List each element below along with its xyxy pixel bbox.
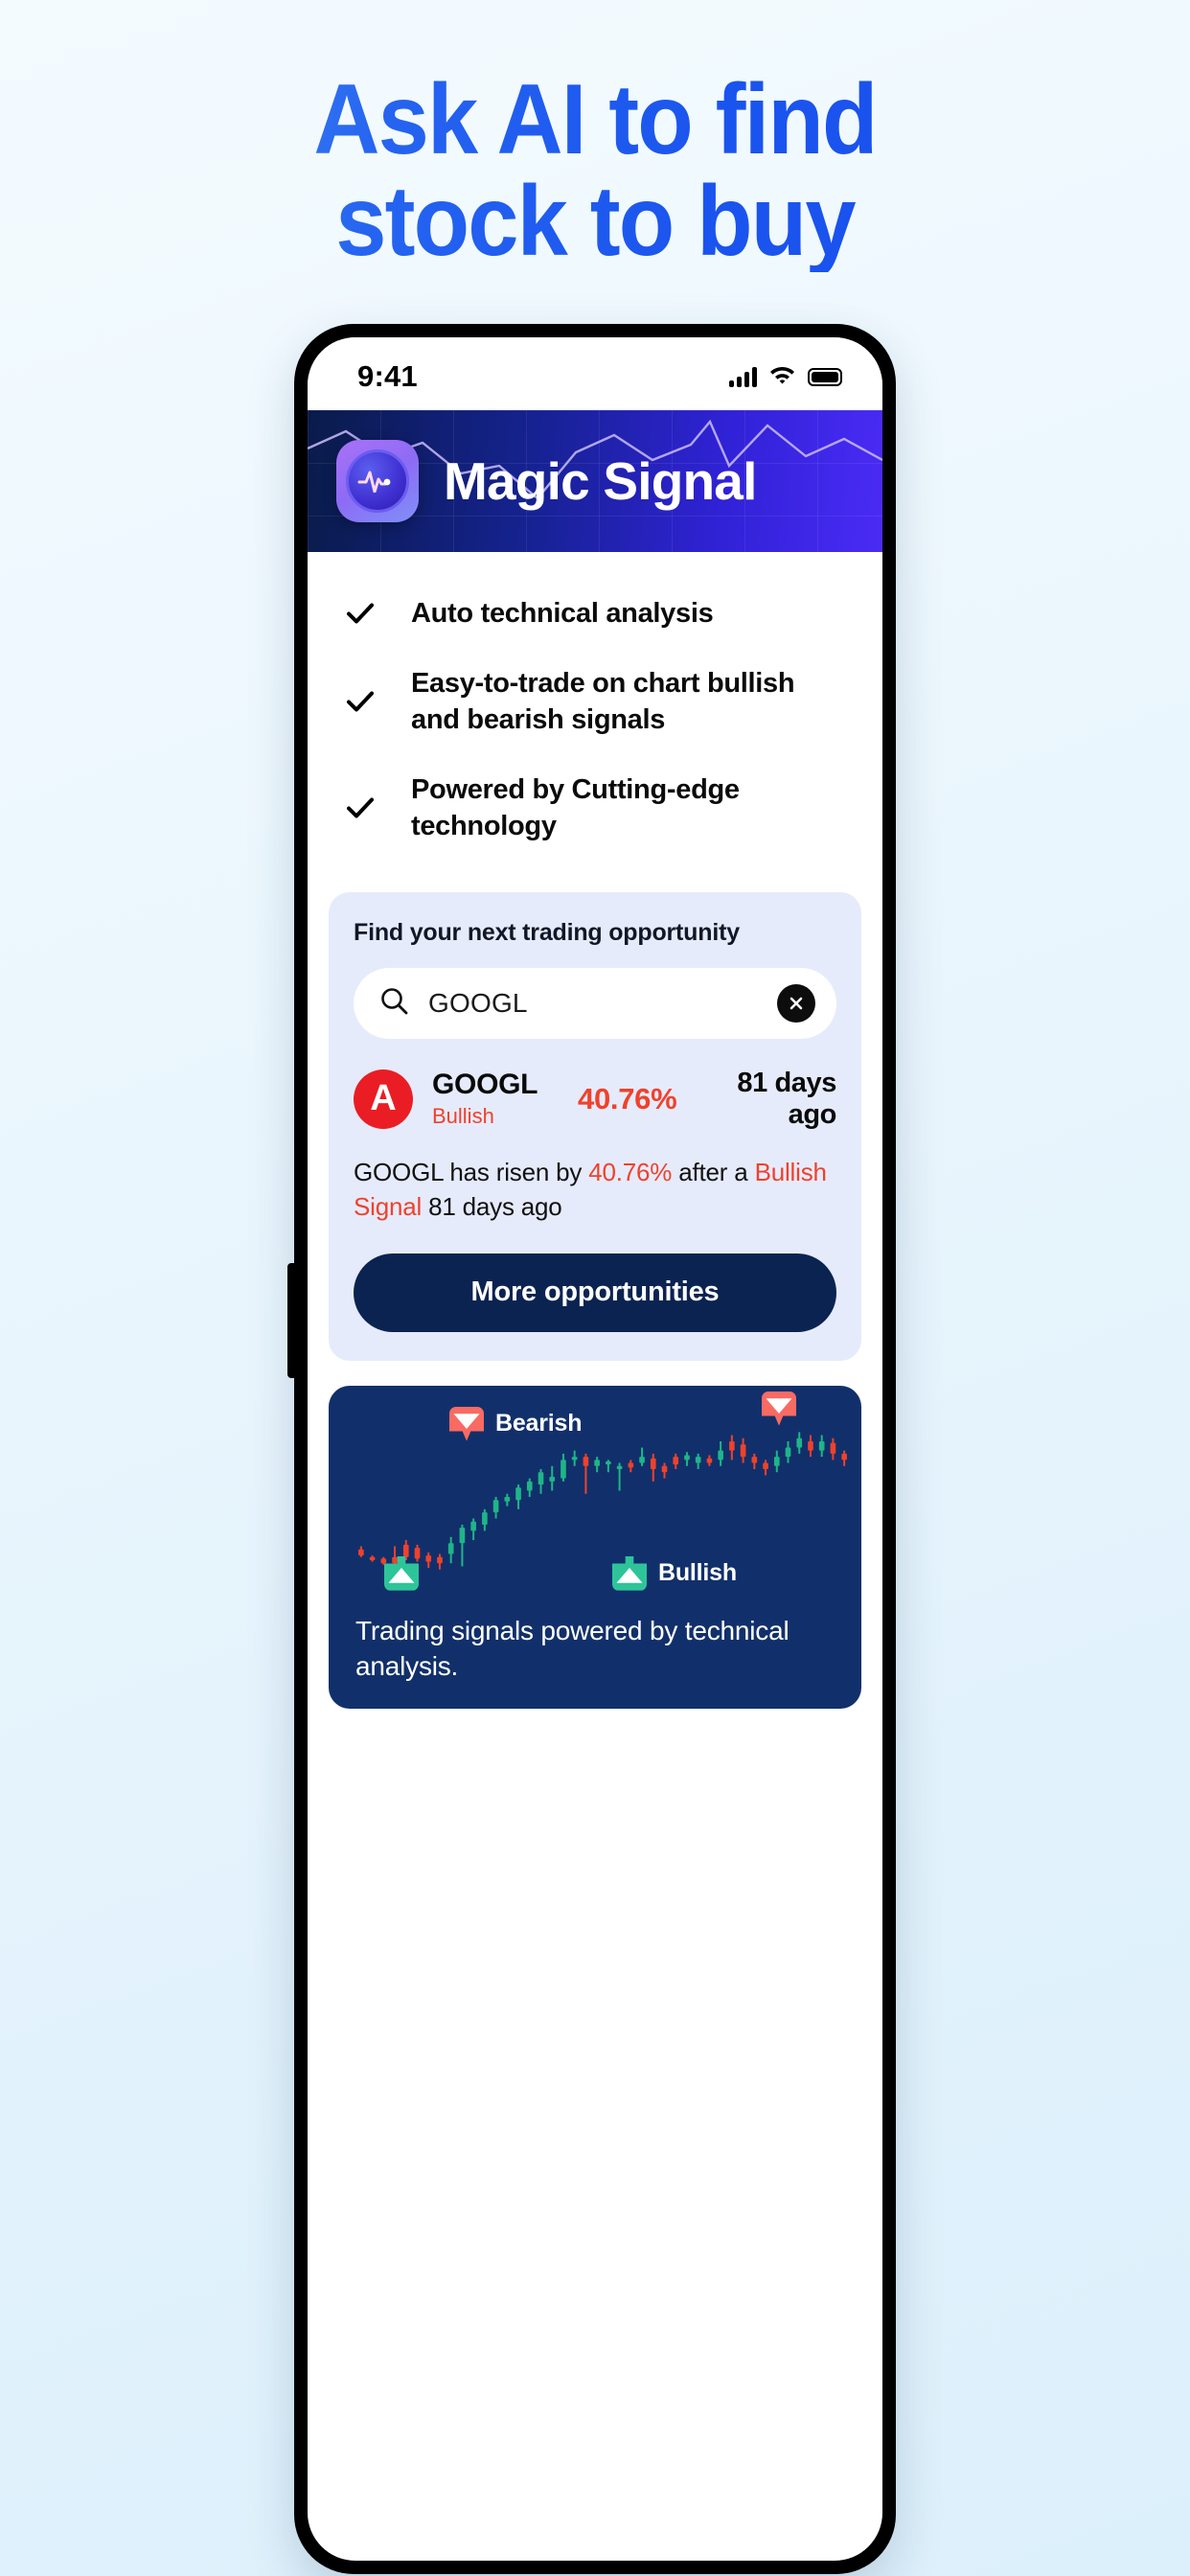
pulse-wave-app-icon	[336, 440, 419, 522]
bearish-label: Bearish	[495, 1410, 582, 1437]
opportunity-card: Find your next trading opportunity GOOGL	[329, 892, 861, 1361]
result-description: GOOGL has risen by 40.76% after a Bullis…	[354, 1156, 836, 1225]
check-icon	[344, 685, 377, 718]
bearish-down-pin-icon	[762, 1391, 796, 1426]
bearish-marker-secondary	[762, 1391, 796, 1426]
bullish-label: Bullish	[658, 1559, 737, 1587]
check-icon	[344, 597, 377, 630]
feature-item: Easy-to-trade on chart bullish and beari…	[344, 649, 846, 755]
close-circle-icon[interactable]	[777, 984, 815, 1023]
search-icon	[378, 985, 409, 1021]
feature-item: Auto technical analysis	[344, 579, 846, 649]
feature-item: Powered by Cutting-edge technology	[344, 755, 846, 862]
desc-part-2: after a	[672, 1158, 754, 1186]
desc-part-1: GOOGL has risen by	[354, 1158, 588, 1186]
status-bar: 9:41	[308, 337, 882, 410]
feature-label: Easy-to-trade on chart bullish and beari…	[411, 665, 846, 739]
bullish-up-pin-icon	[384, 1556, 419, 1591]
desc-highlight-percent: 40.76%	[588, 1158, 672, 1186]
bullish-marker-left	[384, 1556, 419, 1591]
bearish-down-pin-icon	[449, 1407, 484, 1441]
app-name: Magic Signal	[444, 450, 757, 512]
card-title: Find your next trading opportunity	[354, 919, 836, 947]
phone-side-button[interactable]	[287, 1263, 294, 1378]
result-age: 81 days ago	[696, 1068, 836, 1131]
more-opportunities-button[interactable]: More opportunities	[354, 1253, 836, 1332]
bearish-marker: Bearish	[449, 1407, 582, 1441]
signal-chart-card: Bearish	[329, 1386, 861, 1710]
check-icon	[344, 792, 377, 824]
desc-part-3: 81 days ago	[422, 1192, 562, 1221]
page-title: Ask AI to find stock to buy	[48, 0, 1143, 272]
search-result-row[interactable]: A GOOGL Bullish 40.76% 81 days ago	[354, 1068, 836, 1131]
cellular-signal-icon	[729, 366, 757, 387]
feature-list: Auto technical analysis Easy-to-trade on…	[308, 552, 882, 871]
feature-label: Auto technical analysis	[411, 595, 713, 632]
phone-mockup: 9:41	[63, 324, 1127, 2574]
result-ticker: GOOGL	[432, 1069, 559, 1101]
search-input[interactable]: GOOGL	[354, 968, 836, 1039]
chart-caption: Trading signals powered by technical ana…	[329, 1604, 861, 1685]
result-percent: 40.76%	[578, 1082, 676, 1116]
phone-screen: 9:41	[308, 337, 882, 2561]
search-value[interactable]: GOOGL	[428, 988, 758, 1019]
status-time: 9:41	[357, 359, 418, 394]
avatar: A	[354, 1069, 413, 1129]
app-banner: Magic Signal	[308, 410, 882, 552]
battery-icon	[808, 368, 842, 386]
headline-line-1: Ask AI to find	[48, 69, 1143, 171]
feature-label: Powered by Cutting-edge technology	[411, 771, 846, 845]
candlestick-chart: Bearish	[329, 1386, 861, 1604]
headline-line-2: stock to buy	[48, 171, 1143, 272]
status-badge: Bullish	[432, 1104, 559, 1129]
bullish-up-pin-icon	[612, 1556, 647, 1591]
bullish-marker: Bullish	[612, 1556, 737, 1591]
wifi-icon	[769, 364, 795, 389]
